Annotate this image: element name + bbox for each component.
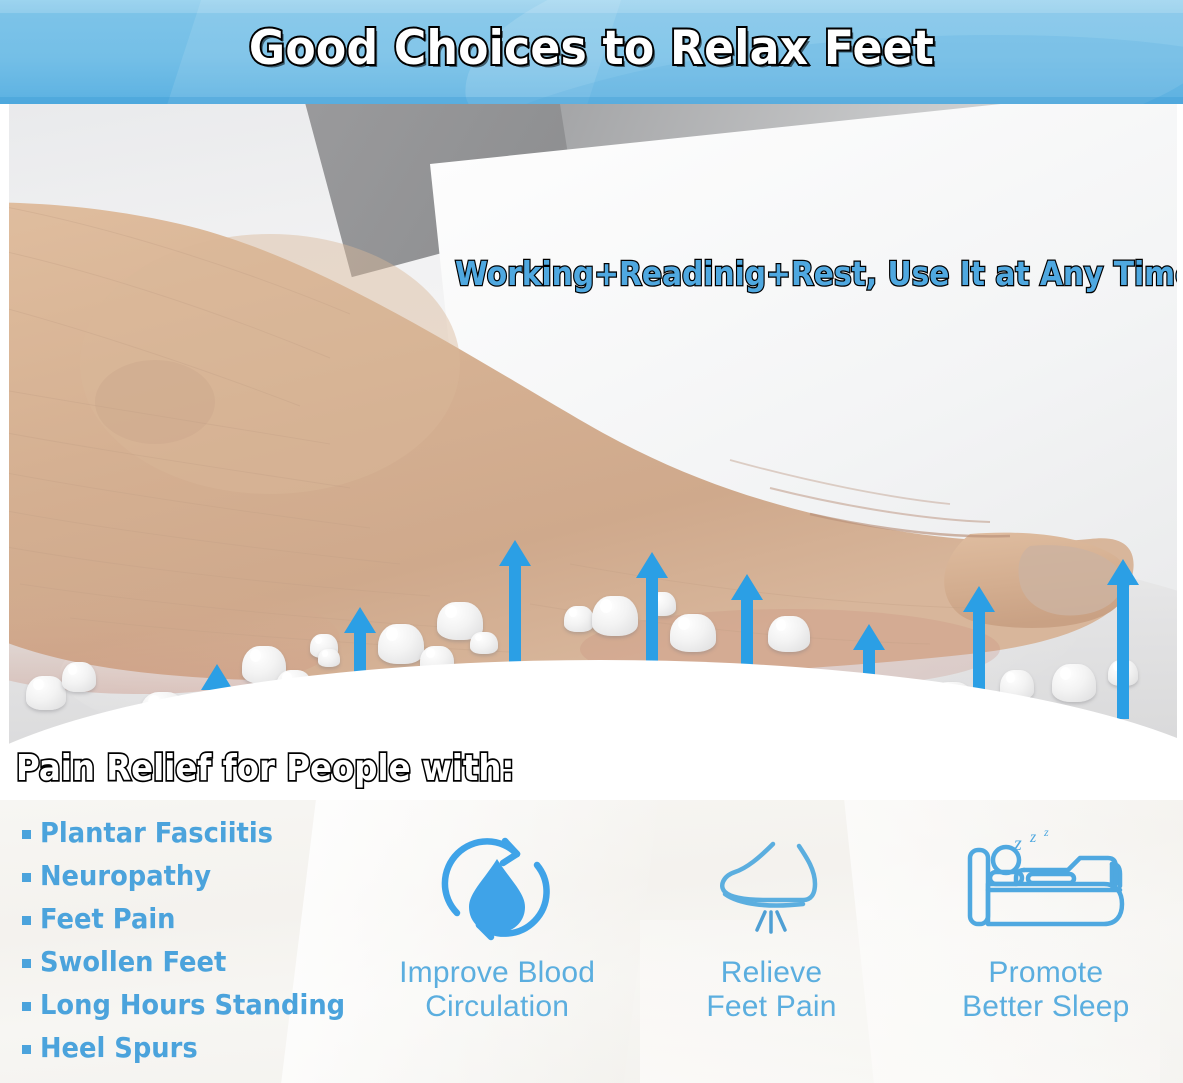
infographic-page: Good Choices to Relax Feet bbox=[0, 0, 1183, 1083]
massage-nub bbox=[26, 676, 66, 710]
massage-nub bbox=[1052, 664, 1096, 702]
benefit-relieve-feet-pain: Relieve Feet Pain bbox=[634, 828, 908, 1078]
benefit-label-line1: Promote bbox=[962, 956, 1130, 990]
benefit-label-line1: Relieve bbox=[706, 956, 836, 990]
list-item-label: Long Hours Standing bbox=[40, 991, 345, 1019]
bullet-square-icon bbox=[22, 959, 31, 968]
benefit-label-line2: Feet Pain bbox=[706, 990, 836, 1024]
list-item: Heel Spurs bbox=[22, 1029, 372, 1066]
bullet-square-icon bbox=[22, 830, 31, 839]
list-item-label: Heel Spurs bbox=[40, 1034, 198, 1062]
list-item-label: Neuropathy bbox=[40, 862, 211, 890]
svg-text:z: z bbox=[1043, 828, 1049, 839]
water-drop-recycle-icon bbox=[433, 828, 561, 948]
bullet-square-icon bbox=[22, 1002, 31, 1011]
benefits-row: Improve Blood Circulation bbox=[360, 828, 1183, 1078]
header-bottom-strip bbox=[0, 97, 1183, 104]
massage-nub bbox=[768, 616, 810, 652]
photo-right-margin bbox=[1177, 104, 1183, 780]
benefit-improve-circulation: Improve Blood Circulation bbox=[360, 828, 634, 1078]
pain-relief-heading: Pain Relief for People with: bbox=[16, 748, 514, 789]
massage-nub bbox=[592, 596, 638, 636]
photo-subtitle: Working+Readinig+Rest, Use It at Any Tim… bbox=[455, 254, 1183, 293]
pressure-arrow bbox=[1106, 559, 1140, 724]
list-item: Plantar Fasciitis bbox=[22, 814, 372, 851]
benefit-label-line2: Circulation bbox=[399, 990, 595, 1024]
massage-nub bbox=[378, 624, 424, 664]
massage-nub bbox=[318, 649, 340, 667]
list-item: Long Hours Standing bbox=[22, 986, 372, 1023]
page-title: Good Choices to Relax Feet bbox=[35, 21, 1147, 76]
benefit-label: Improve Blood Circulation bbox=[399, 956, 595, 1023]
benefit-promote-sleep: z z z Promote Better Sleep bbox=[909, 828, 1183, 1078]
header-banner: Good Choices to Relax Feet bbox=[0, 0, 1183, 104]
list-item-label: Feet Pain bbox=[40, 905, 176, 933]
list-item: Swollen Feet bbox=[22, 943, 372, 980]
benefit-label: Relieve Feet Pain bbox=[706, 956, 836, 1023]
bullet-square-icon bbox=[22, 873, 31, 882]
massage-nub bbox=[62, 662, 96, 692]
person-sleeping-bed-icon: z z z bbox=[962, 828, 1130, 948]
foot-pain-relief-icon bbox=[707, 828, 835, 948]
photo-left-margin bbox=[0, 104, 9, 780]
list-item: Feet Pain bbox=[22, 900, 372, 937]
product-photo: Working+Readinig+Rest, Use It at Any Tim… bbox=[0, 104, 1183, 780]
conditions-list: Plantar Fasciitis Neuropathy Feet Pain S… bbox=[22, 814, 372, 1072]
z-small: z bbox=[1013, 833, 1022, 855]
massage-nub bbox=[564, 606, 594, 632]
list-item-label: Plantar Fasciitis bbox=[40, 819, 273, 847]
bullet-square-icon bbox=[22, 1045, 31, 1054]
bullet-square-icon bbox=[22, 916, 31, 925]
benefit-label-line1: Improve Blood bbox=[399, 956, 595, 990]
massage-nub bbox=[470, 632, 498, 654]
massage-nub bbox=[670, 614, 716, 652]
benefit-label: Promote Better Sleep bbox=[962, 956, 1130, 1023]
svg-text:z: z bbox=[1029, 829, 1037, 846]
benefits-panel: Plantar Fasciitis Neuropathy Feet Pain S… bbox=[0, 800, 1183, 1083]
list-item-label: Swollen Feet bbox=[40, 948, 226, 976]
benefit-label-line2: Better Sleep bbox=[962, 990, 1130, 1024]
list-item: Neuropathy bbox=[22, 857, 372, 894]
